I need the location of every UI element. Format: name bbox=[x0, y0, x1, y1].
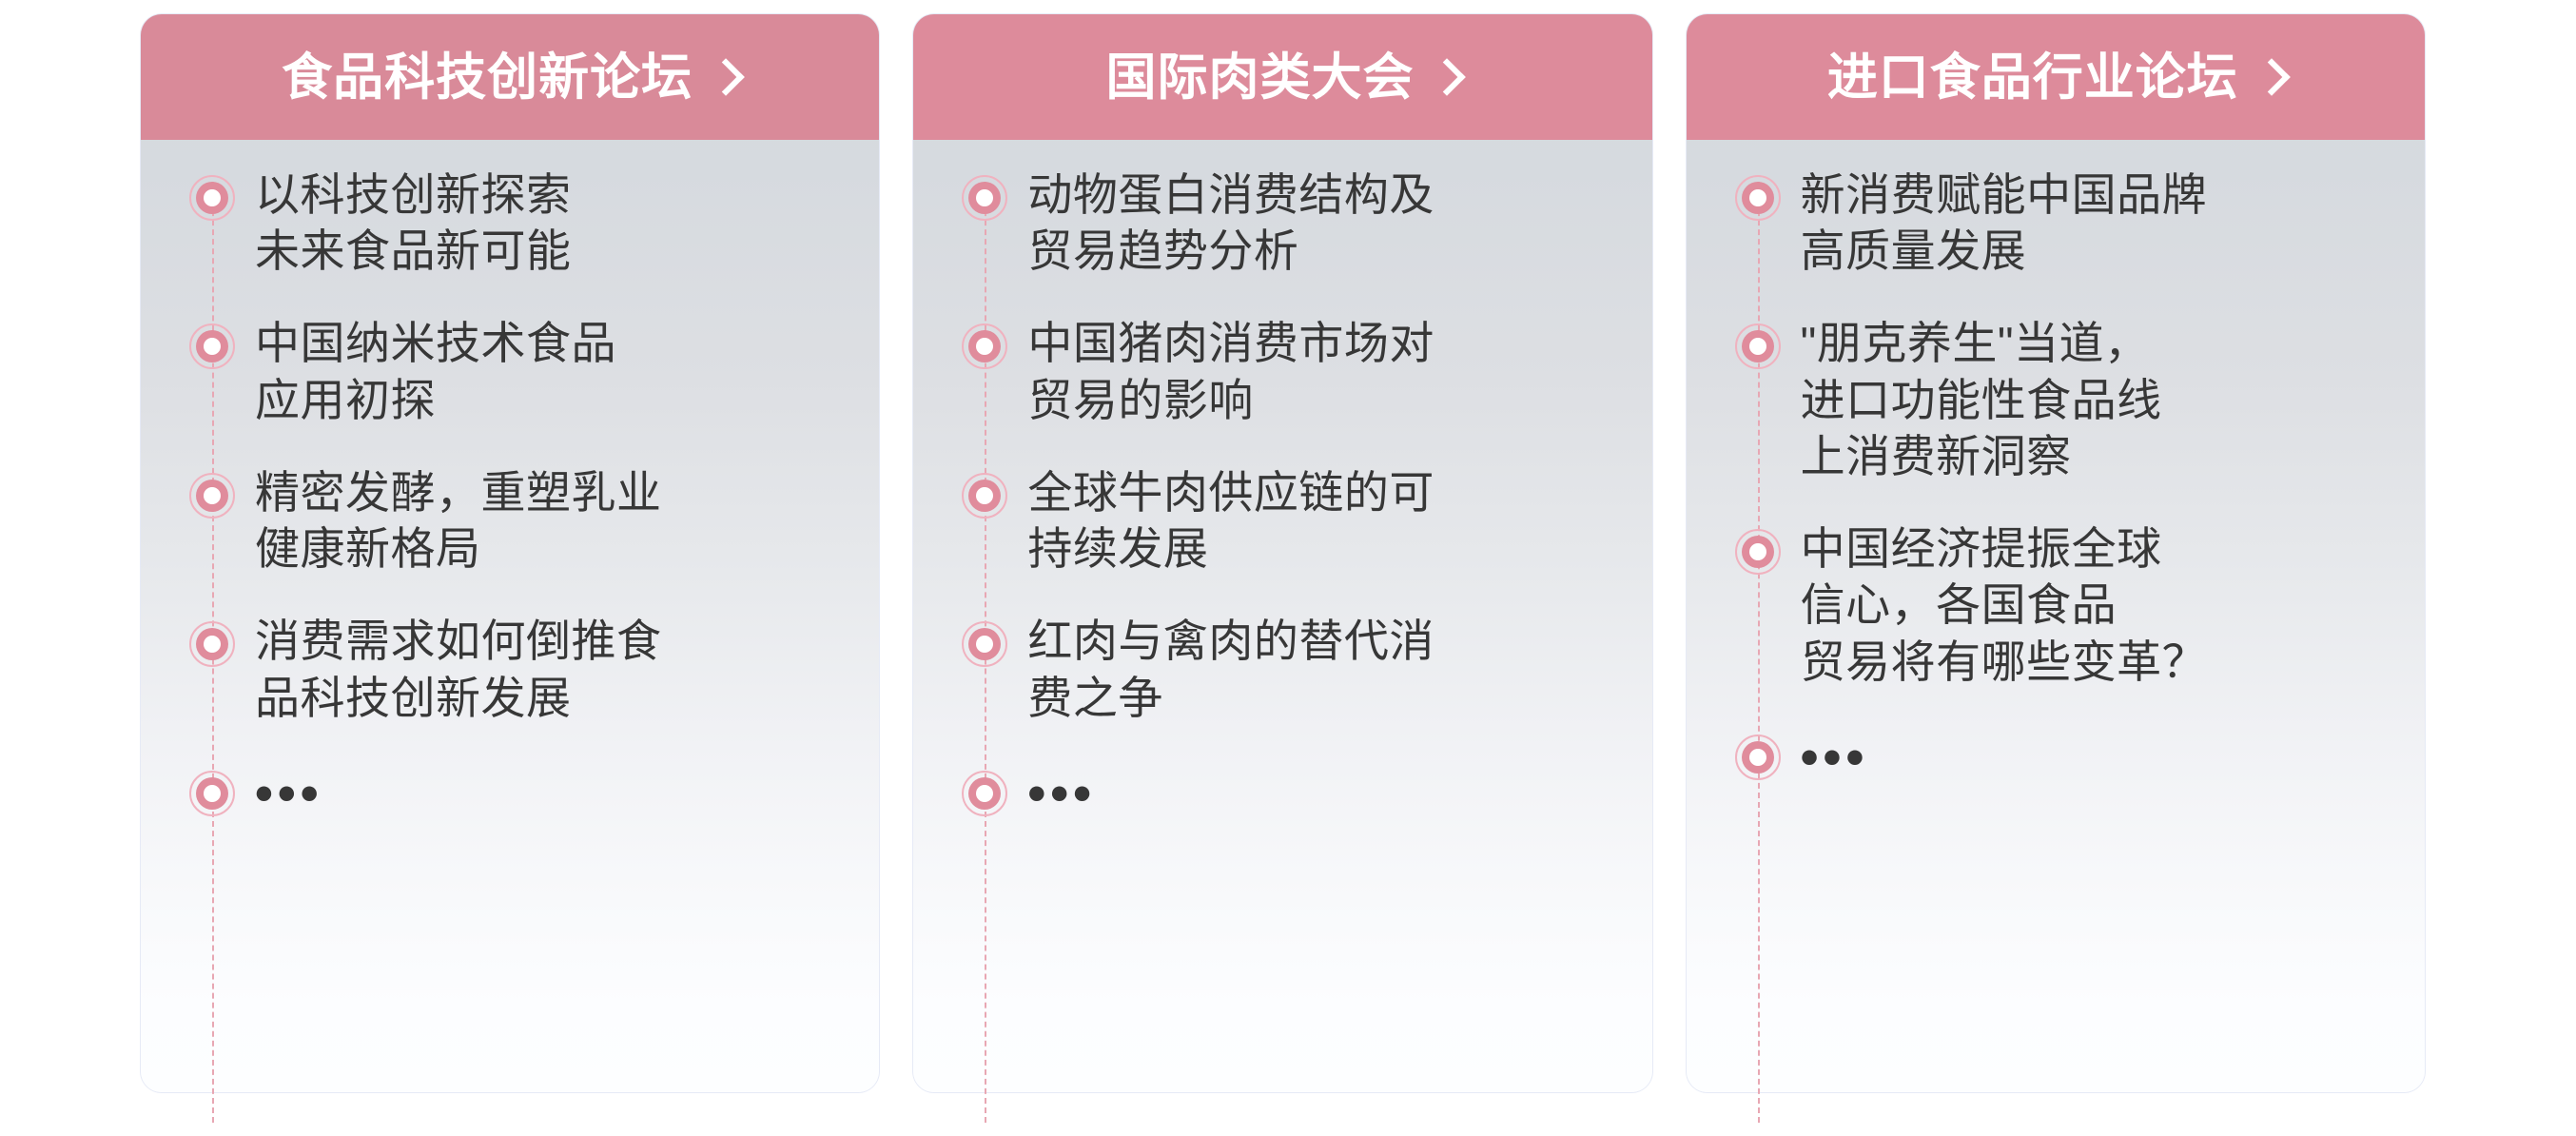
forum-card-3-topic-list: 新消费赋能中国品牌 高质量发展 "朋克养生"当道， 进口功能性食品线 上消费新洞… bbox=[1719, 166, 2392, 783]
target-circle-icon bbox=[961, 174, 1010, 224]
topic-label: 消费需求如何倒推食 品科技创新发展 bbox=[255, 613, 847, 725]
forum-card-2-body: 动物蛋白消费结构及 贸易趋势分析 中国猪肉消费市场对 贸易的影响 全球牛肉供应链… bbox=[913, 140, 1651, 1092]
forum-card-2-topic-list: 动物蛋白消费结构及 贸易趋势分析 中国猪肉消费市场对 贸易的影响 全球牛肉供应链… bbox=[946, 166, 1619, 819]
forum-card-1-header[interactable]: 食品科技创新论坛 bbox=[141, 14, 879, 140]
list-item[interactable]: 中国猪肉消费市场对 贸易的影响 bbox=[946, 315, 1619, 427]
more-ellipsis-label: ••• bbox=[1027, 762, 1619, 819]
target-circle-icon bbox=[961, 323, 1010, 372]
forum-topic-cards: 食品科技创新论坛 以科技创新探索 未来食品新可能 中国纳米技术食品 应用初探 bbox=[0, 0, 2576, 1136]
target-circle-icon bbox=[188, 472, 238, 521]
list-item[interactable]: 以科技创新探索 未来食品新可能 bbox=[173, 166, 847, 279]
topic-label: "朋克养生"当道， 进口功能性食品线 上消费新洞察 bbox=[1801, 315, 2392, 484]
chevron-right-icon bbox=[2255, 55, 2284, 99]
forum-card-3-header[interactable]: 进口食品行业论坛 bbox=[1687, 14, 2425, 140]
topic-label: 中国纳米技术食品 应用初探 bbox=[255, 315, 847, 427]
forum-card-2[interactable]: 国际肉类大会 动物蛋白消费结构及 贸易趋势分析 中国猪肉消费市场对 贸易的影响 bbox=[913, 14, 1651, 1092]
list-item[interactable]: 全球牛肉供应链的可 持续发展 bbox=[946, 464, 1619, 577]
topic-label: 精密发酵，重塑乳业 健康新格局 bbox=[255, 464, 847, 577]
topic-label: 新消费赋能中国品牌 高质量发展 bbox=[1801, 166, 2392, 279]
target-circle-icon bbox=[188, 174, 238, 224]
more-ellipsis-label: ••• bbox=[255, 762, 847, 819]
chevron-right-icon bbox=[710, 55, 738, 99]
target-circle-icon bbox=[188, 323, 238, 372]
target-circle-icon bbox=[188, 770, 238, 819]
forum-card-1-topic-list: 以科技创新探索 未来食品新可能 中国纳米技术食品 应用初探 精密发酵，重塑乳业 … bbox=[173, 166, 847, 819]
topic-label: 中国经济提振全球 信心，各国食品 贸易将有哪些变革？ bbox=[1801, 520, 2392, 690]
target-circle-icon bbox=[1734, 528, 1784, 578]
list-item[interactable]: 消费需求如何倒推食 品科技创新发展 bbox=[173, 613, 847, 725]
target-circle-icon bbox=[1734, 323, 1784, 372]
forum-card-1[interactable]: 食品科技创新论坛 以科技创新探索 未来食品新可能 中国纳米技术食品 应用初探 bbox=[141, 14, 879, 1092]
forum-card-2-header[interactable]: 国际肉类大会 bbox=[913, 14, 1651, 140]
list-item[interactable]: 中国经济提振全球 信心，各国食品 贸易将有哪些变革？ bbox=[1719, 520, 2392, 690]
target-circle-icon bbox=[1734, 734, 1784, 783]
chevron-right-icon bbox=[1431, 55, 1459, 99]
topic-label: 以科技创新探索 未来食品新可能 bbox=[255, 166, 847, 279]
list-item-more[interactable]: ••• bbox=[1719, 726, 2392, 783]
list-item-more[interactable]: ••• bbox=[173, 762, 847, 819]
target-circle-icon bbox=[961, 472, 1010, 521]
target-circle-icon bbox=[961, 770, 1010, 819]
forum-card-1-body: 以科技创新探索 未来食品新可能 中国纳米技术食品 应用初探 精密发酵，重塑乳业 … bbox=[141, 140, 879, 1092]
forum-card-1-title: 食品科技创新论坛 bbox=[282, 52, 693, 103]
forum-card-3-title: 进口食品行业论坛 bbox=[1827, 52, 2238, 103]
list-item[interactable]: 动物蛋白消费结构及 贸易趋势分析 bbox=[946, 166, 1619, 279]
topic-label: 红肉与禽肉的替代消 费之争 bbox=[1027, 613, 1619, 725]
target-circle-icon bbox=[961, 620, 1010, 670]
target-circle-icon bbox=[1734, 174, 1784, 224]
list-item[interactable]: 新消费赋能中国品牌 高质量发展 bbox=[1719, 166, 2392, 279]
topic-label: 动物蛋白消费结构及 贸易趋势分析 bbox=[1027, 166, 1619, 279]
list-item[interactable]: "朋克养生"当道， 进口功能性食品线 上消费新洞察 bbox=[1719, 315, 2392, 484]
more-ellipsis-label: ••• bbox=[1801, 726, 2392, 783]
list-item-more[interactable]: ••• bbox=[946, 762, 1619, 819]
target-circle-icon bbox=[188, 620, 238, 670]
topic-label: 全球牛肉供应链的可 持续发展 bbox=[1027, 464, 1619, 577]
forum-card-3[interactable]: 进口食品行业论坛 新消费赋能中国品牌 高质量发展 "朋克养生"当道， 进口功能性… bbox=[1687, 14, 2425, 1092]
topic-label: 中国猪肉消费市场对 贸易的影响 bbox=[1027, 315, 1619, 427]
forum-card-2-title: 国际肉类大会 bbox=[1105, 52, 1414, 103]
list-item[interactable]: 中国纳米技术食品 应用初探 bbox=[173, 315, 847, 427]
list-item[interactable]: 红肉与禽肉的替代消 费之争 bbox=[946, 613, 1619, 725]
forum-card-3-body: 新消费赋能中国品牌 高质量发展 "朋克养生"当道， 进口功能性食品线 上消费新洞… bbox=[1687, 140, 2425, 1092]
list-item[interactable]: 精密发酵，重塑乳业 健康新格局 bbox=[173, 464, 847, 577]
